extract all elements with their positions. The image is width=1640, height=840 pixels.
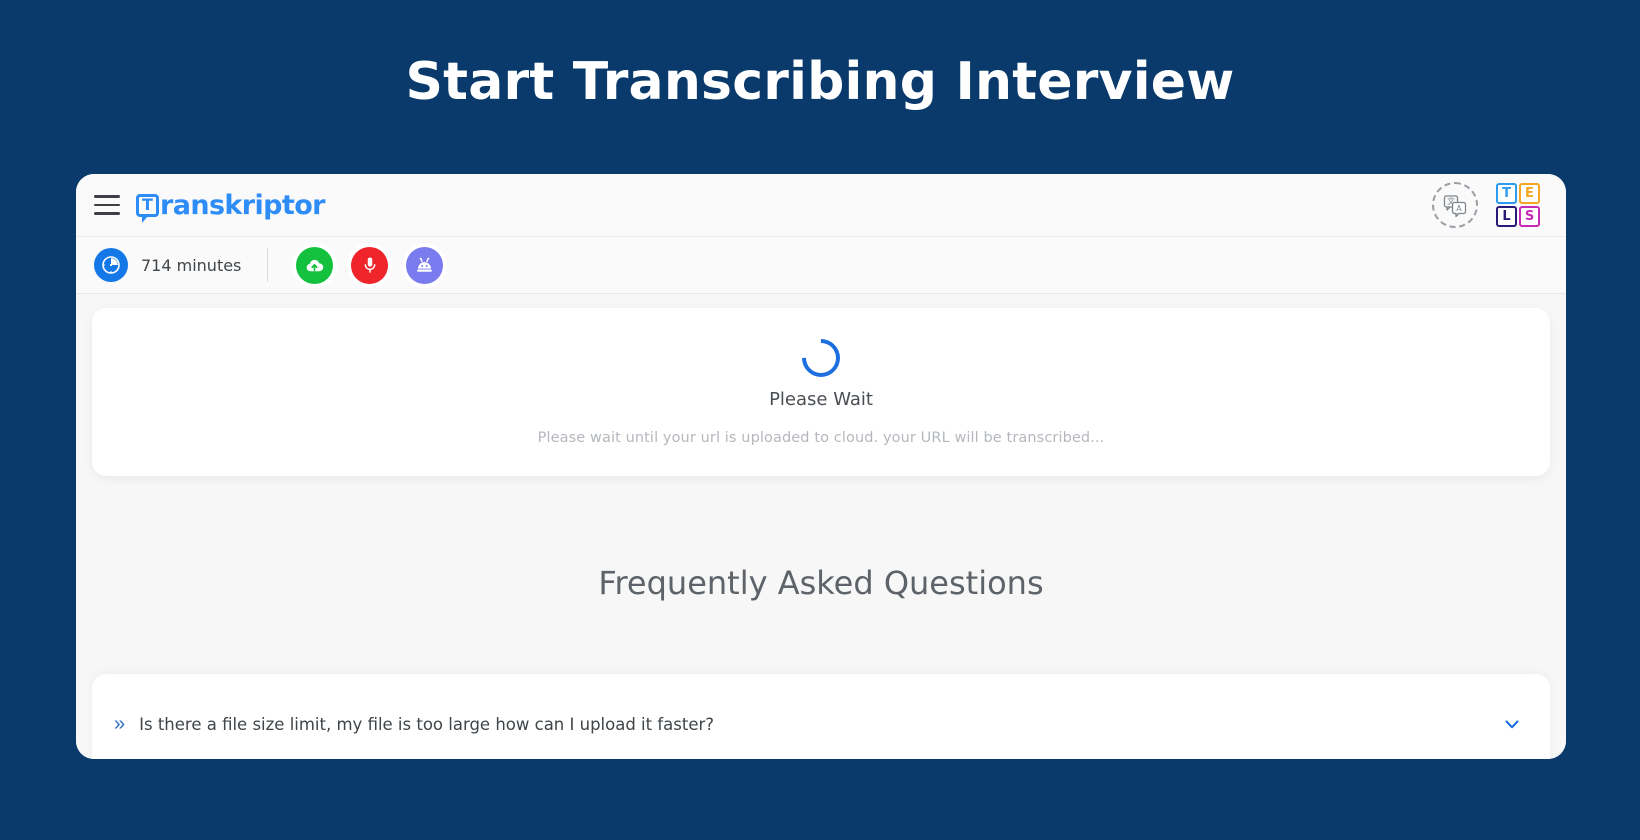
- brand-name: ranskriptor: [160, 190, 325, 221]
- translate-button[interactable]: 文 A: [1432, 182, 1478, 228]
- app-window: T ranskriptor 文 A T E: [76, 174, 1566, 759]
- clock-badge[interactable]: [94, 248, 128, 282]
- chevron-down-icon: [1500, 712, 1524, 736]
- meeting-bot-button[interactable]: [406, 247, 443, 284]
- brand-logo[interactable]: T ranskriptor: [136, 190, 325, 221]
- status-card: Please Wait Please wait until your url i…: [92, 308, 1550, 476]
- tels-tile-s: S: [1519, 206, 1540, 227]
- svg-text:A: A: [1456, 204, 1462, 213]
- faq-heading: Frequently Asked Questions: [92, 564, 1550, 602]
- brand-mark-letter: T: [142, 197, 153, 213]
- status-title: Please Wait: [769, 389, 873, 410]
- tels-tile-l: L: [1496, 206, 1517, 227]
- loading-spinner-icon: [794, 331, 848, 385]
- screenshot-root: Start Transcribing Interview T ranskript…: [0, 0, 1640, 840]
- faq-expand-toggle[interactable]: [1500, 712, 1524, 736]
- topbar-right-group: 文 A T E L S: [1432, 182, 1540, 228]
- app-content: Please Wait Please wait until your url i…: [76, 294, 1566, 759]
- tels-tile-t: T: [1496, 183, 1517, 204]
- app-topbar: T ranskriptor 文 A T E: [76, 174, 1566, 236]
- status-message: Please wait until your url is uploaded t…: [538, 430, 1105, 446]
- clock-icon: [101, 255, 121, 275]
- translate-icon: 文 A: [1443, 193, 1467, 217]
- tels-tile-e: E: [1519, 183, 1540, 204]
- cloud-upload-icon: [304, 255, 325, 276]
- minutes-label: 714 minutes: [141, 256, 241, 275]
- microphone-icon: [360, 255, 380, 275]
- double-chevron-right-icon: »: [114, 714, 125, 734]
- faq-item[interactable]: » Is there a file size limit, my file is…: [92, 674, 1550, 759]
- upload-file-button[interactable]: [296, 247, 333, 284]
- faq-question: Is there a file size limit, my file is t…: [139, 715, 714, 734]
- robot-icon: [414, 255, 435, 276]
- minutes-balance: 714 minutes: [94, 248, 268, 282]
- app-actionbar: 714 minutes: [76, 236, 1566, 294]
- tels-logo[interactable]: T E L S: [1496, 183, 1540, 227]
- page-title: Start Transcribing Interview: [0, 52, 1640, 112]
- transkriptor-mark-icon: T: [136, 194, 159, 217]
- record-audio-button[interactable]: [351, 247, 388, 284]
- faq-list: » Is there a file size limit, my file is…: [92, 674, 1550, 759]
- action-buttons-group: [296, 247, 443, 284]
- hamburger-menu-icon[interactable]: [94, 195, 120, 215]
